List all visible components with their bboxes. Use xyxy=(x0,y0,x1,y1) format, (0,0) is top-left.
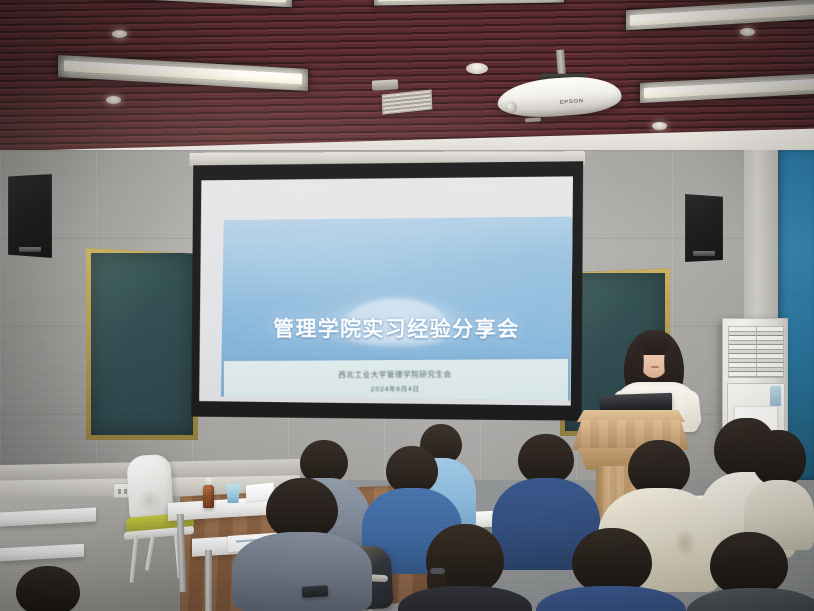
audience-shirt xyxy=(398,586,532,611)
audience-head xyxy=(572,528,652,594)
audience-head xyxy=(16,566,80,611)
desk-leg xyxy=(205,550,212,611)
fluorescent-tube xyxy=(378,0,560,2)
audience-shirt xyxy=(536,586,686,611)
projection-screen: 管理学院实习经验分享会 西北工业大学管理学院研究生会 2024年6月4日 xyxy=(189,151,585,421)
ceiling-light-trough xyxy=(640,73,814,103)
air-vent xyxy=(382,89,433,114)
audience-member-front-center-ponytail xyxy=(398,524,532,611)
audience-member-bottom-left xyxy=(0,566,96,611)
projector-body: EPSON xyxy=(496,74,622,121)
smartphone-on-desk xyxy=(302,585,329,598)
blackboard-left xyxy=(86,248,198,440)
downlight-icon xyxy=(112,30,127,38)
ceiling-projector: EPSON xyxy=(495,64,622,121)
projected-slide: 管理学院实习经验分享会 西北工业大学管理学院研究生会 2024年6月4日 xyxy=(221,217,573,401)
smoke-detector-icon xyxy=(466,63,488,74)
speaker-badge xyxy=(693,251,715,256)
audience-head xyxy=(266,478,338,540)
downlight-icon xyxy=(740,28,755,36)
ac-control-display xyxy=(770,386,781,406)
fluorescent-tube xyxy=(630,3,814,26)
wall-speaker-right xyxy=(685,194,723,262)
bottle-body xyxy=(203,485,214,508)
audience-head xyxy=(518,434,574,484)
audience-head xyxy=(710,532,788,596)
hair-tie xyxy=(430,568,445,574)
audience-shirt xyxy=(232,532,372,611)
screen-surface: 管理学院实习经验分享会 西北工业大学管理学院研究生会 2024年6月4日 xyxy=(199,176,573,405)
projector-lens xyxy=(505,101,518,114)
downlight-icon xyxy=(652,122,667,130)
fluorescent-tube xyxy=(644,78,814,99)
wall-speaker-left xyxy=(8,174,52,258)
ceiling-light-trough xyxy=(374,0,564,6)
chair-backrest xyxy=(126,454,173,522)
slide-date: 2024年6月4日 xyxy=(224,382,568,394)
audience-head xyxy=(386,446,438,494)
fluorescent-tube xyxy=(96,0,286,3)
audience-member-front-center-right xyxy=(536,528,686,611)
downlight-icon xyxy=(106,96,121,104)
ceiling-light-trough xyxy=(626,0,814,30)
audience-shirt xyxy=(686,588,814,611)
slide-organization: 西北工业大学管理学院研究生会 xyxy=(224,368,568,381)
ac-louver-grille xyxy=(728,326,784,378)
chair-leg xyxy=(145,535,155,571)
slide-title: 管理学院实习经验分享会 xyxy=(221,313,573,343)
projector-brand-label: EPSON xyxy=(560,99,584,106)
slatted-ceiling: EPSON xyxy=(0,0,814,152)
presenter-mouth xyxy=(651,366,659,368)
drink-bottle xyxy=(203,478,214,508)
projector-vent-slot xyxy=(525,117,541,122)
fluorescent-tube xyxy=(64,60,302,84)
sprinkler-icon xyxy=(372,79,398,90)
ceiling-light-trough xyxy=(92,0,292,7)
audience-member-front-right xyxy=(686,532,814,611)
slide-footer-band: 西北工业大学管理学院研究生会 2024年6月4日 xyxy=(224,359,568,401)
audience-head xyxy=(752,430,806,486)
ceiling-light-trough xyxy=(58,55,308,91)
lecture-hall-photo: EPSON 管理学院实习经验分享会 西北工业大学管理学院研究生会 2024年6月… xyxy=(0,0,814,611)
speaker-badge xyxy=(19,247,41,252)
